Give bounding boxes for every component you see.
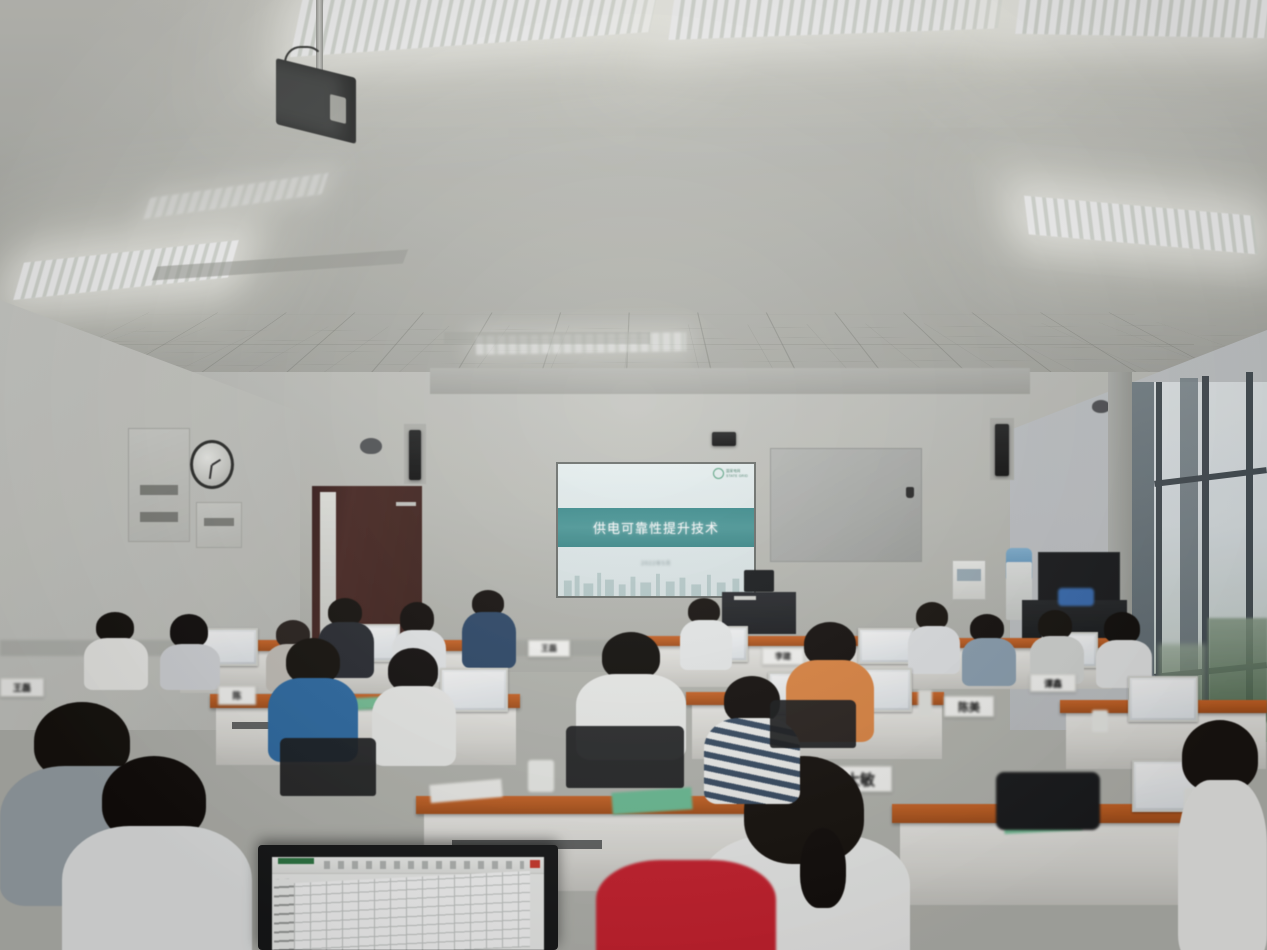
chair: [566, 726, 684, 788]
door-sign: [396, 502, 416, 506]
water-cup: [1092, 710, 1108, 732]
attendee: [680, 598, 732, 664]
attendee-hair: [602, 632, 660, 680]
attendee: [1178, 720, 1267, 950]
wall-clock: [190, 440, 234, 489]
desk-nameplate: 陈: [218, 686, 256, 705]
speaker-left: [409, 430, 421, 480]
bag: [996, 772, 1100, 830]
attendee-body: [908, 626, 960, 674]
attendee-body: [84, 638, 148, 690]
desk-base: [900, 822, 1190, 905]
speaker-center: [712, 432, 736, 446]
projector-lens-icon: [330, 94, 346, 124]
attendee: [268, 638, 358, 750]
spreadsheet-app-tab[interactable]: [278, 858, 314, 864]
podium-monitor: [744, 570, 774, 592]
spreadsheet-grid[interactable]: [294, 871, 530, 950]
attendee: [372, 648, 456, 752]
cabinet-bag: [1058, 588, 1094, 606]
presenter: [512, 512, 582, 630]
wall-frame-large-art: [140, 485, 178, 495]
desk-nameplate: 谭鑫: [1030, 674, 1076, 692]
camera-icon: [906, 487, 914, 498]
chair: [770, 700, 856, 748]
attendee: [1096, 612, 1152, 682]
ceiling-light-2: [668, 0, 1005, 40]
clock-hour-hand: [211, 458, 221, 465]
attendee-body: [596, 860, 776, 950]
chair: [280, 738, 376, 796]
attendee: [1030, 610, 1084, 678]
water-cup: [918, 690, 932, 716]
attendee-body: [1178, 780, 1267, 950]
slide-date: 2022年5月: [558, 560, 754, 567]
desk-nameplate: 王磊: [0, 678, 44, 697]
student-monitor: [1128, 676, 1198, 722]
ceiling-light-7: [143, 173, 328, 219]
desk-nameplate: 陈美: [944, 696, 994, 717]
dome-camera-left: [360, 438, 382, 454]
ceiling: [0, 0, 1267, 420]
speaker-right: [995, 424, 1009, 476]
wall-frame-large-art-2: [140, 512, 178, 522]
wall-frame-small-art: [204, 518, 234, 526]
attendee: [962, 614, 1016, 680]
attendee-body: [372, 686, 456, 766]
attendee: [84, 612, 148, 682]
slide: 供电可靠性提升技术 2022年5月 国家电网 STATE GRID: [558, 464, 754, 596]
ceiling-light-5: [1024, 196, 1258, 255]
state-grid-logo: 国家电网 STATE GRID: [713, 468, 748, 479]
attendee: [160, 614, 220, 682]
attendee-hair: [170, 614, 208, 648]
attendee-body: [962, 638, 1016, 686]
attendee-ponytail: [800, 828, 846, 908]
monitor-screen: [1132, 680, 1194, 718]
ceiling-soffit: [430, 368, 1030, 394]
logo-text-line2: STATE GRID: [726, 474, 748, 478]
ceiling-air-vent-2: [444, 332, 650, 344]
spreadsheet-window[interactable]: [272, 857, 544, 950]
attendee-body: [462, 612, 516, 668]
close-icon[interactable]: [530, 860, 540, 868]
attendee: [908, 602, 960, 668]
attendee-body: [160, 644, 220, 690]
attendee: [462, 590, 516, 662]
podium-control-strip: [734, 596, 756, 600]
control-panel-display: [957, 569, 981, 581]
attendee-body: [62, 826, 252, 950]
ceiling-light-1: [290, 0, 662, 57]
clock-minute-hand: [209, 464, 212, 478]
toolbar-icons: [324, 861, 524, 869]
attendee: [62, 756, 252, 950]
whiteboard: [770, 448, 922, 562]
attendee: [596, 840, 776, 950]
window-shade-2: [1180, 378, 1198, 678]
ceiling-light-3: [1015, 0, 1267, 38]
water-cup: [528, 760, 554, 792]
logo-ring-icon: [713, 468, 724, 479]
classroom-photo: 供电可靠性提升技术 2022年5月 国家电网 STATE GRID: [0, 0, 1267, 950]
wall-control-panel: [952, 560, 986, 600]
slide-title: 供电可靠性提升技术: [558, 508, 754, 548]
projection-screen: 供电可靠性提升技术 2022年5月 国家电网 STATE GRID: [556, 462, 756, 598]
desk-nameplate: 王磊: [528, 640, 570, 657]
attendee-body: [680, 620, 732, 670]
spreadsheet-row-headers: [274, 878, 294, 950]
